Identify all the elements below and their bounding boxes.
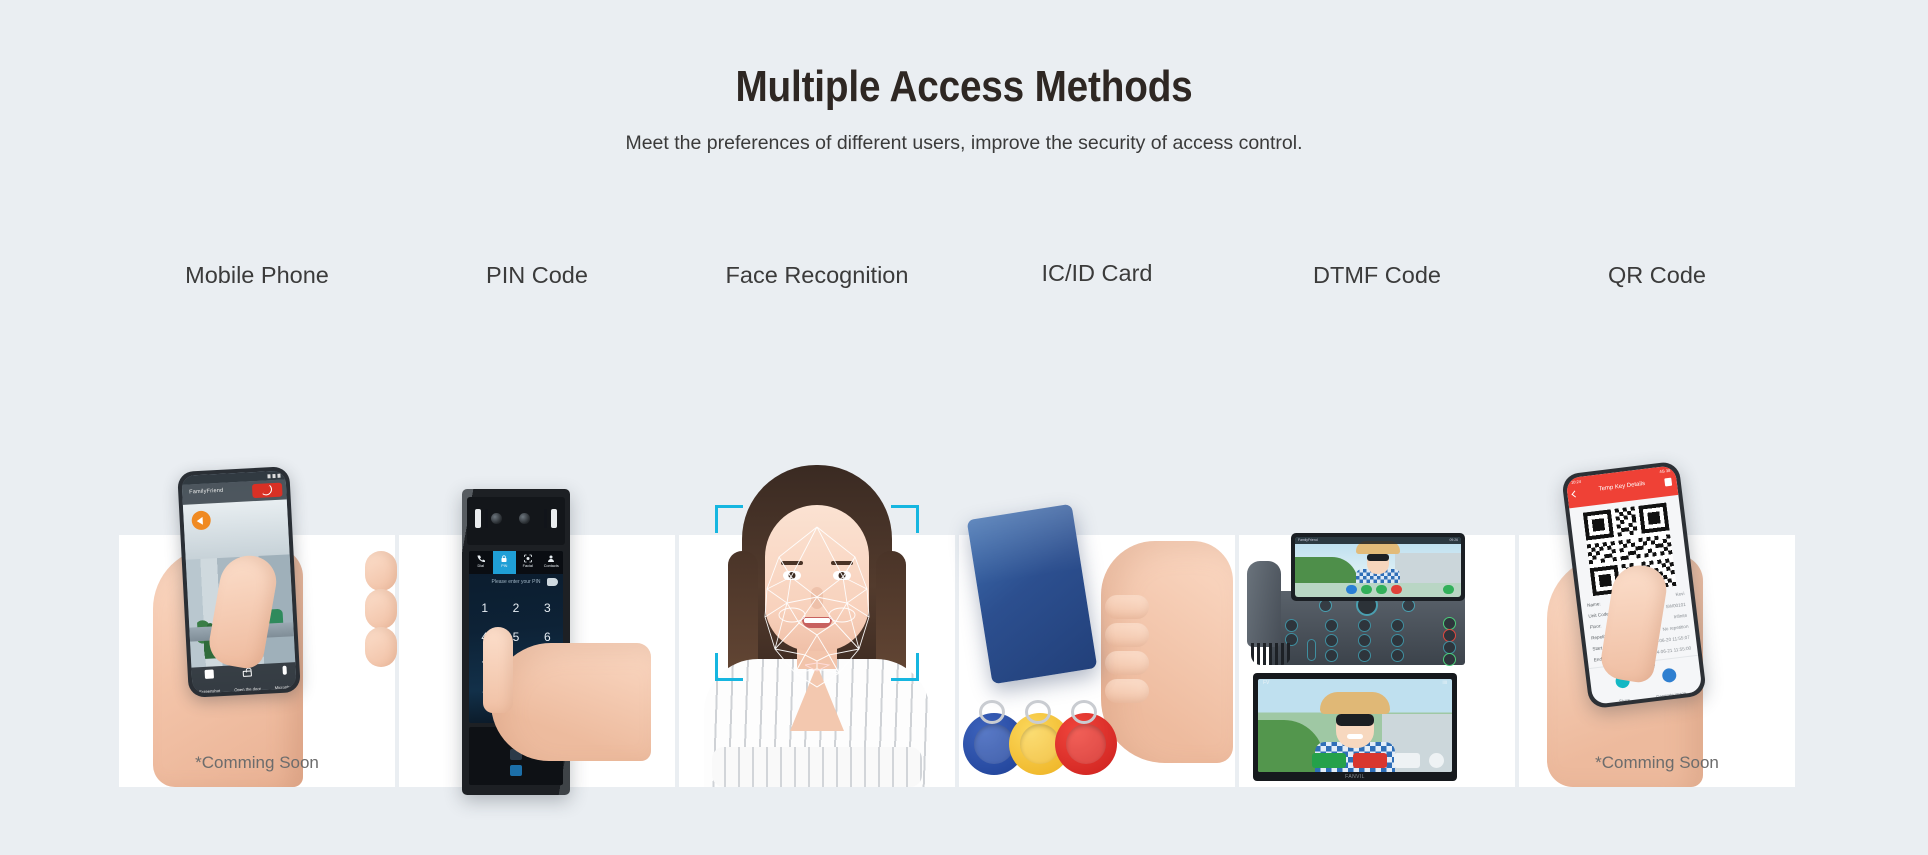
status-left: FamilyFriend xyxy=(1298,538,1318,542)
open-door-button[interactable]: Open the door xyxy=(232,667,263,694)
tab-facial[interactable]: Facial xyxy=(516,551,540,574)
expand-button[interactable] xyxy=(1443,585,1454,594)
row-value: SW00101 xyxy=(1665,602,1686,609)
tab-pin[interactable]: PIN xyxy=(493,551,517,574)
unlock-icon xyxy=(242,670,251,676)
screenshot-icon xyxy=(204,669,213,678)
microphone-button[interactable]: Microphone xyxy=(269,665,296,694)
face-icon xyxy=(524,554,532,563)
screenshot-label: Screenshot xyxy=(199,688,220,693)
method-label-dtmf-code: DTMF Code xyxy=(1239,262,1515,289)
volume-bar[interactable] xyxy=(1307,639,1316,661)
screenshot-button[interactable]: Screenshot xyxy=(194,669,225,694)
dial-keypad[interactable] xyxy=(1325,619,1437,663)
generate-image-label: Generate image xyxy=(1656,690,1686,699)
brand-label: FANVIL xyxy=(1345,774,1365,780)
keypad-key[interactable] xyxy=(1358,619,1371,632)
microphone-icon xyxy=(282,666,286,675)
rfid-card-icon xyxy=(967,504,1098,685)
divider xyxy=(485,509,488,528)
answer-button[interactable] xyxy=(1361,585,1372,594)
methods-row: Mobile Phone xyxy=(0,262,1928,822)
method-card-pin-code[interactable]: Dial PIN Facial xyxy=(399,535,675,787)
status-right: 09:26 xyxy=(1450,538,1459,542)
caller-name: FamilyFriend xyxy=(189,488,223,496)
status-left: 10:24 xyxy=(1571,479,1582,485)
desk-phone-icon: FamilyFriend 09:26 xyxy=(1247,533,1465,665)
tab-contacts[interactable]: Contacts xyxy=(540,551,564,574)
coming-soon-note: *Comming Soon xyxy=(1519,753,1795,773)
unlock-button[interactable] xyxy=(1394,753,1420,768)
open-door-label: Open the door xyxy=(234,686,261,692)
mobile-phone-illustration: FamilyFriend Screenshot xyxy=(119,535,395,787)
method-label-face-recognition: Face Recognition xyxy=(679,262,955,289)
finger-shape xyxy=(365,627,397,667)
display-status-bar: FamilyFriend 09:26 xyxy=(1295,537,1461,544)
scan-bracket-icon xyxy=(715,653,743,681)
row-value: Kevi xyxy=(1675,591,1684,597)
finger-shape xyxy=(365,589,397,629)
camera-module xyxy=(467,497,565,545)
keypad-key[interactable] xyxy=(1358,634,1371,647)
face-recognition-illustration xyxy=(679,535,955,787)
unlock-button[interactable] xyxy=(1376,585,1387,594)
mode-tab-bar: Dial PIN Facial xyxy=(469,551,563,574)
ir-light-icon xyxy=(475,509,481,528)
phone-body xyxy=(1269,591,1465,665)
answer-button[interactable] xyxy=(1312,753,1346,768)
ir-light-icon xyxy=(551,509,557,528)
monitor-screen: FV iiii xyxy=(1258,679,1452,772)
finger-shape xyxy=(1105,595,1149,619)
sunglasses-icon xyxy=(1336,714,1374,726)
page-subtitle: Meet the preferences of different users,… xyxy=(0,132,1928,155)
share-label: Share xyxy=(1619,697,1631,703)
tab-facial-label: Facial xyxy=(516,564,540,568)
phone-display: FamilyFriend 09:26 xyxy=(1295,537,1461,597)
app-title: Temp Key Details xyxy=(1567,477,1677,496)
lock-icon xyxy=(500,554,508,563)
capture-button[interactable] xyxy=(1429,753,1444,768)
scan-bracket-icon xyxy=(891,505,919,533)
method-label-pin-code: PIN Code xyxy=(399,262,675,289)
handset-icon xyxy=(1247,561,1281,647)
section-header: Multiple Access Methods Meet the prefere… xyxy=(0,0,1928,155)
tab-pin-label: PIN xyxy=(493,564,517,568)
hangup-button[interactable] xyxy=(1391,585,1402,594)
status-right: 4G 38 xyxy=(1659,468,1670,474)
hangup-button[interactable] xyxy=(1353,753,1387,768)
mute-button[interactable] xyxy=(1346,585,1357,594)
keypad-key[interactable] xyxy=(1325,649,1338,662)
trash-icon[interactable] xyxy=(1664,478,1672,487)
phone-icon xyxy=(477,554,485,563)
key-fob-icon xyxy=(1055,713,1117,775)
tab-contacts-label: Contacts xyxy=(540,564,564,568)
keypad-key[interactable] xyxy=(1391,619,1404,632)
sunglasses-icon xyxy=(1367,554,1389,561)
method-card-face-recognition[interactable] xyxy=(679,535,955,787)
finger-shape xyxy=(1105,651,1149,675)
ic-id-card-illustration xyxy=(959,535,1235,787)
method-label-mobile-phone: Mobile Phone xyxy=(119,262,395,289)
camera-lens-icon xyxy=(519,513,530,524)
visitor-figure xyxy=(1352,541,1404,583)
phone-cord xyxy=(1251,643,1291,665)
row-key: Floor: xyxy=(1590,623,1602,629)
key-2[interactable]: 2 xyxy=(500,593,531,622)
method-card-ic-id-card[interactable] xyxy=(959,535,1235,787)
access-methods-section: Multiple Access Methods Meet the prefere… xyxy=(0,0,1928,855)
building-shape xyxy=(1395,553,1461,583)
finger-shape xyxy=(1105,623,1149,647)
method-card-qr-code[interactable]: 10:24 4G 38 Temp Key Details xyxy=(1519,535,1795,787)
row-key: Name: xyxy=(1587,601,1601,608)
contacts-icon xyxy=(547,554,555,563)
method-card-mobile-phone[interactable]: FamilyFriend Screenshot xyxy=(119,535,395,787)
app-header: 10:24 4G 38 Temp Key Details xyxy=(1566,465,1679,508)
monitor-status-left: FV xyxy=(1263,680,1269,686)
image-icon xyxy=(1661,668,1677,684)
hand-shape xyxy=(491,643,651,761)
portrait-image xyxy=(679,465,955,787)
dtmf-illustration: FamilyFriend 09:26 xyxy=(1239,535,1515,787)
divider xyxy=(544,509,547,528)
finger-shape xyxy=(365,551,397,591)
pointing-finger-shape xyxy=(483,627,513,713)
smile-shape xyxy=(1347,734,1363,739)
keypad-key[interactable] xyxy=(1325,634,1338,647)
key-3[interactable]: 3 xyxy=(532,593,563,622)
page-title: Multiple Access Methods xyxy=(116,62,1813,112)
qr-code-illustration: 10:24 4G 38 Temp Key Details xyxy=(1519,535,1795,787)
pin-code-illustration: Dial PIN Facial xyxy=(399,535,675,787)
coming-soon-note: *Comming Soon xyxy=(119,753,395,773)
phone-hangup-icon[interactable] xyxy=(252,483,283,499)
hand-shape xyxy=(1101,541,1233,763)
scan-bracket-icon xyxy=(891,653,919,681)
keypad-key[interactable] xyxy=(1325,619,1338,632)
row-value: Infinite xyxy=(1673,613,1687,620)
keypad-key[interactable] xyxy=(1391,634,1404,647)
function-key[interactable] xyxy=(1285,619,1298,632)
camera-lens-icon xyxy=(491,513,502,524)
tab-dial[interactable]: Dial xyxy=(469,551,493,574)
call-control-bar xyxy=(1295,584,1461,595)
indoor-monitor-icon: FV iiii FANVIL xyxy=(1253,673,1457,781)
backspace-icon[interactable] xyxy=(547,578,558,586)
key-1[interactable]: 1 xyxy=(469,593,500,622)
phone-display-bezel: FamilyFriend 09:26 xyxy=(1291,533,1465,601)
monitor-action-bar xyxy=(1258,753,1452,769)
keypad-key[interactable] xyxy=(1391,649,1404,662)
monitor-status-right: iiii xyxy=(1443,680,1447,686)
tab-dial-label: Dial xyxy=(469,564,493,568)
hat-shape xyxy=(1320,692,1390,714)
scan-bracket-icon xyxy=(715,505,743,533)
method-card-dtmf-code[interactable]: FamilyFriend 09:26 xyxy=(1239,535,1515,787)
keypad-key[interactable] xyxy=(1358,649,1371,662)
monitor-status-bar: FV iiii xyxy=(1258,679,1452,689)
side-key-column[interactable] xyxy=(1443,617,1459,665)
method-label-ic-id-card: IC/ID Card xyxy=(959,260,1235,287)
finger-shape xyxy=(1105,679,1149,703)
line-key[interactable] xyxy=(1443,653,1456,666)
method-label-qr-code: QR Code xyxy=(1519,262,1795,289)
microphone-label: Microphone xyxy=(275,684,297,690)
